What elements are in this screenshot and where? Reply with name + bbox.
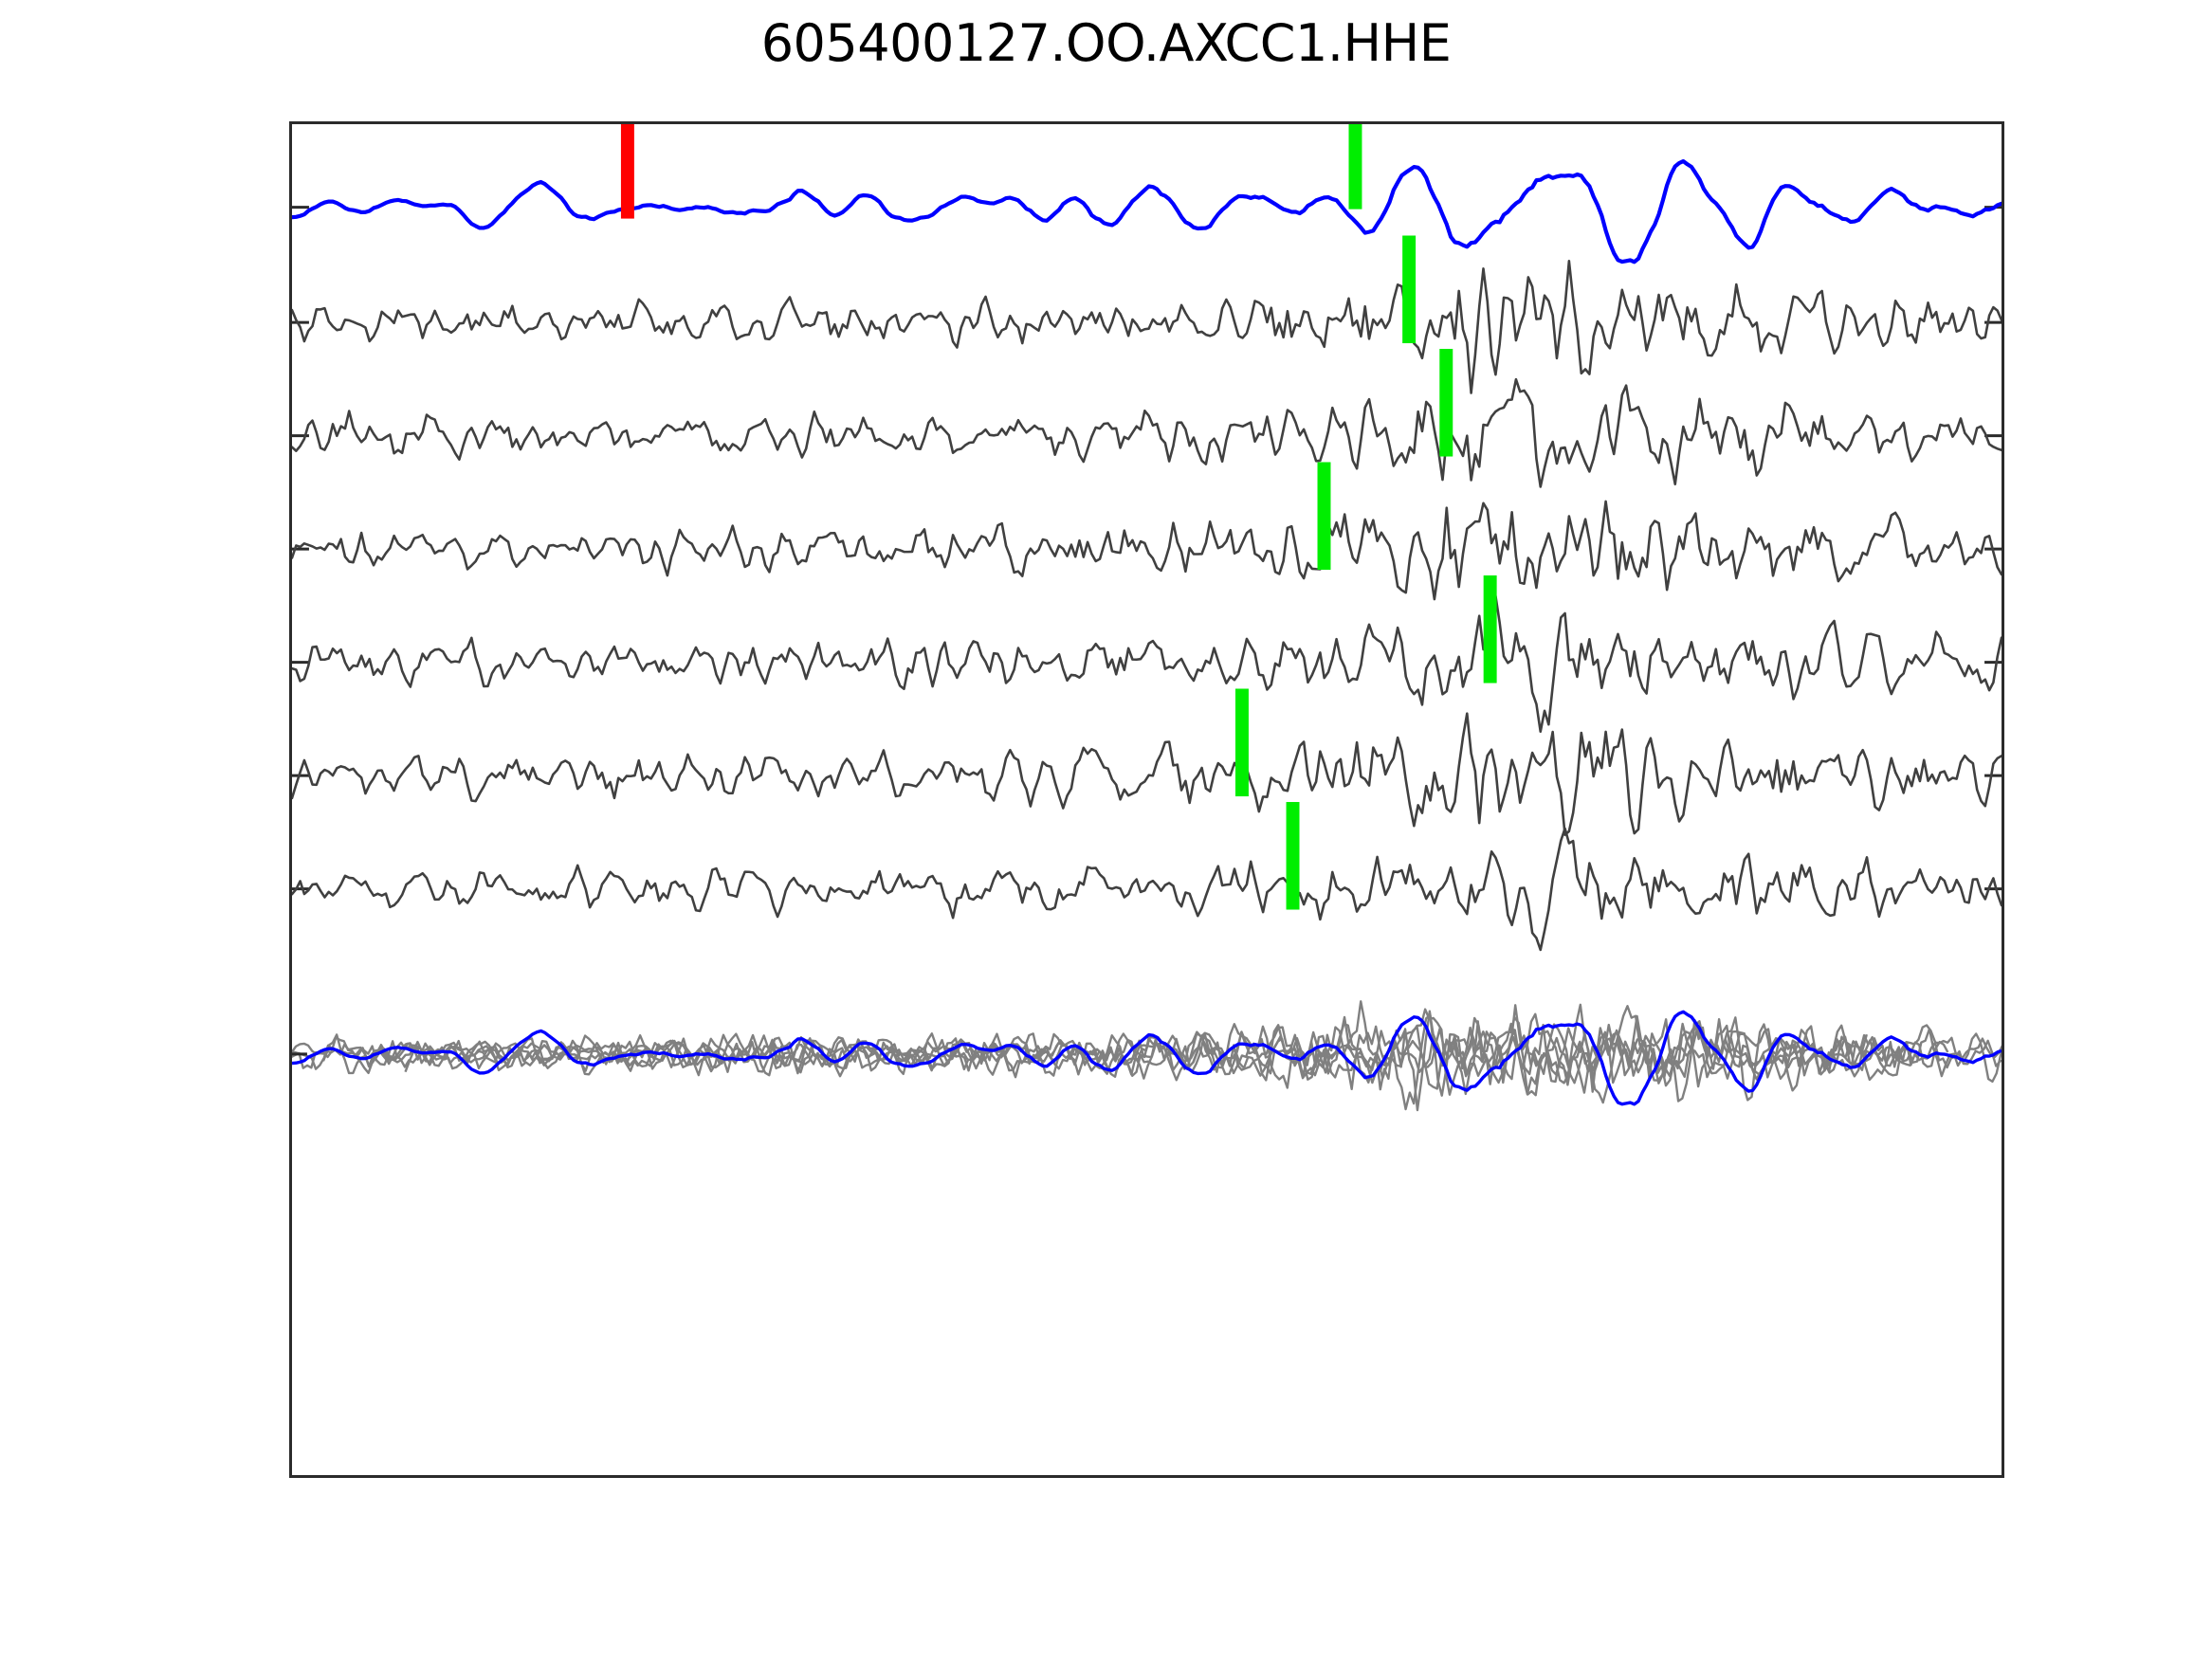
waveform-1139408: [292, 714, 2002, 835]
plot-area: [289, 121, 2004, 1478]
pick-marker-1081264: [1287, 802, 1300, 910]
waveform-605400127: [292, 161, 2002, 262]
trace-row-1090159: [292, 236, 2002, 393]
pick-marker-1090162: [1439, 349, 1453, 457]
pick-marker-1090161: [1484, 575, 1497, 684]
pick-marker-605400127: [1348, 124, 1362, 210]
trace-row-1081264: [292, 802, 2002, 950]
waveform-1048861: [292, 501, 2002, 599]
pick-marker-1090159: [1402, 236, 1416, 344]
waveform-1090162: [292, 379, 2002, 486]
x-axis-tick-labels: [289, 1493, 2004, 1578]
pick-marker-1048861: [1318, 462, 1331, 570]
figure-root: 605400127.OO.AXCC1.HHE: [0, 0, 2212, 1659]
waveform-canvas: [292, 124, 2002, 1475]
waveform-1090159: [292, 261, 2002, 392]
stack-overlay: [292, 1001, 2002, 1110]
pick-marker-1139408: [1235, 688, 1249, 796]
trace-row-1139408: [292, 688, 2002, 834]
trace-row-605400127: [292, 124, 2002, 262]
trace-row-1090161: [292, 575, 2002, 732]
trace-row-1048861: [292, 462, 2002, 599]
trace-row-1090162: [292, 349, 2002, 486]
origin-marker-605400127: [621, 124, 634, 219]
waveform-1081264: [292, 829, 2002, 950]
page-title: 605400127.OO.AXCC1.HHE: [0, 13, 2212, 73]
waveform-1090161: [292, 596, 2002, 732]
